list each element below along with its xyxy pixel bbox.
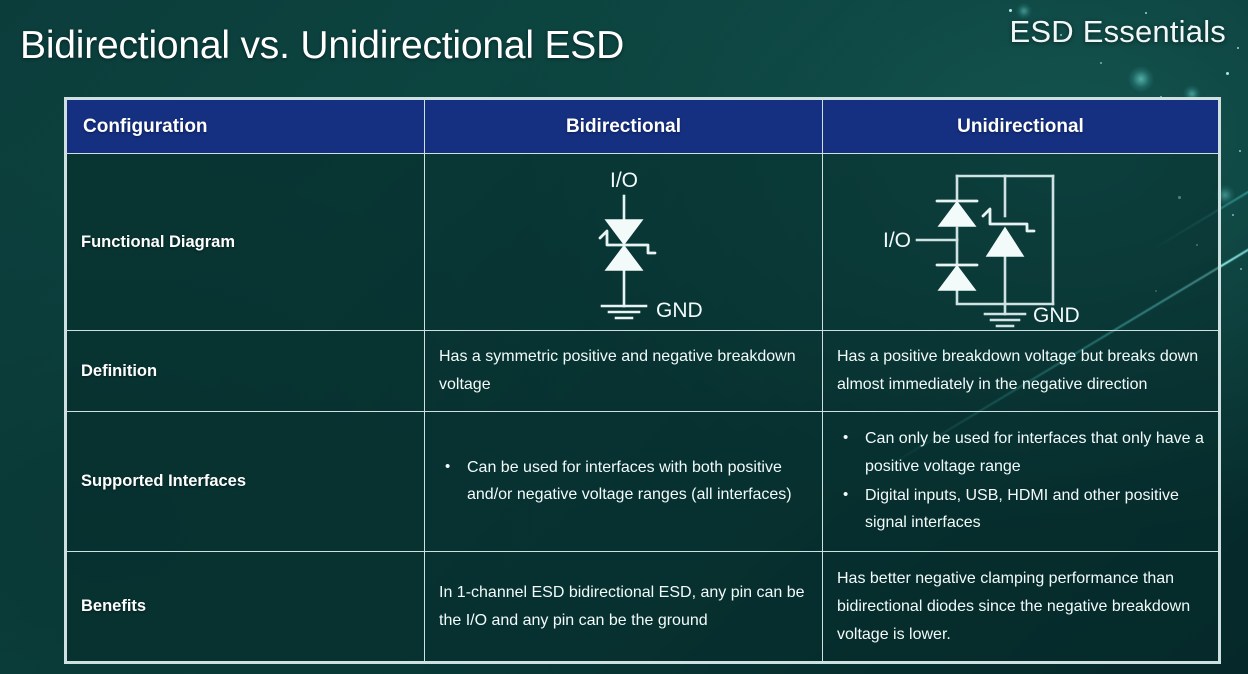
column-header-bidirectional: Bidirectional xyxy=(425,100,823,154)
star-icon xyxy=(1232,214,1234,216)
bullet-list-bidirectional: Can be used for interfaces with both pos… xyxy=(439,454,808,509)
row-label-benefits: Benefits xyxy=(67,552,425,662)
cell-bidirectional-definition: Has a symmetric positive and negative br… xyxy=(425,331,823,412)
slide-canvas: Bidirectional vs. Unidirectional ESD ESD… xyxy=(0,0,1248,674)
star-icon xyxy=(1239,150,1241,152)
gnd-label: GND xyxy=(1033,304,1080,327)
list-item: Can be used for interfaces with both pos… xyxy=(439,454,808,509)
io-label: I/O xyxy=(609,169,637,192)
star-icon xyxy=(1240,268,1242,270)
column-header-configuration: Configuration xyxy=(67,100,425,154)
glow-spot-icon xyxy=(1128,66,1154,92)
cell-bidirectional-supported-interfaces: Can be used for interfaces with both pos… xyxy=(425,412,823,552)
slide-kicker: ESD Essentials xyxy=(1010,14,1226,50)
cell-bidirectional-benefits: In 1-channel ESD bidirectional ESD, any … xyxy=(425,552,823,662)
unidirectional-esd-bridge-schematic-icon: I/O GND xyxy=(881,154,1161,330)
row-label-functional-diagram: Functional Diagram xyxy=(67,154,425,331)
star-icon xyxy=(1100,62,1102,64)
bullet-list-unidirectional: Can only be used for interfaces that onl… xyxy=(837,425,1204,537)
cell-unidirectional-supported-interfaces: Can only be used for interfaces that onl… xyxy=(823,412,1219,552)
table-header-row: Configuration Bidirectional Unidirection… xyxy=(67,100,1219,154)
table-row: Definition Has a symmetric positive and … xyxy=(67,331,1219,412)
table-row: Supported Interfaces Can be used for int… xyxy=(67,412,1219,552)
table-row: Benefits In 1-channel ESD bidirectional … xyxy=(67,552,1219,662)
row-label-supported-interfaces: Supported Interfaces xyxy=(67,412,425,552)
star-icon xyxy=(1237,47,1239,49)
row-label-definition: Definition xyxy=(67,331,425,412)
comparison-table-container: Configuration Bidirectional Unidirection… xyxy=(64,97,1221,664)
page-title: Bidirectional vs. Unidirectional ESD xyxy=(20,24,624,68)
cell-bidirectional-diagram: I/O GND xyxy=(425,154,823,331)
list-item: Digital inputs, USB, HDMI and other posi… xyxy=(837,482,1204,537)
comparison-table: Configuration Bidirectional Unidirection… xyxy=(66,99,1219,662)
io-label: I/O xyxy=(882,229,910,252)
cell-unidirectional-benefits: Has better negative clamping performance… xyxy=(823,552,1219,662)
column-header-unidirectional: Unidirectional xyxy=(823,100,1219,154)
star-icon xyxy=(1009,9,1012,12)
cell-unidirectional-diagram: I/O GND xyxy=(823,154,1219,331)
bidirectional-tvs-diode-schematic-icon: I/O GND xyxy=(514,154,734,330)
table-row: Functional Diagram xyxy=(67,154,1219,331)
list-item: Can only be used for interfaces that onl… xyxy=(837,425,1204,480)
table-body: Functional Diagram xyxy=(67,154,1219,662)
gnd-label: GND xyxy=(656,299,703,322)
table-header: Configuration Bidirectional Unidirection… xyxy=(67,100,1219,154)
cell-unidirectional-definition: Has a positive breakdown voltage but bre… xyxy=(823,331,1219,412)
star-icon xyxy=(1226,72,1229,75)
